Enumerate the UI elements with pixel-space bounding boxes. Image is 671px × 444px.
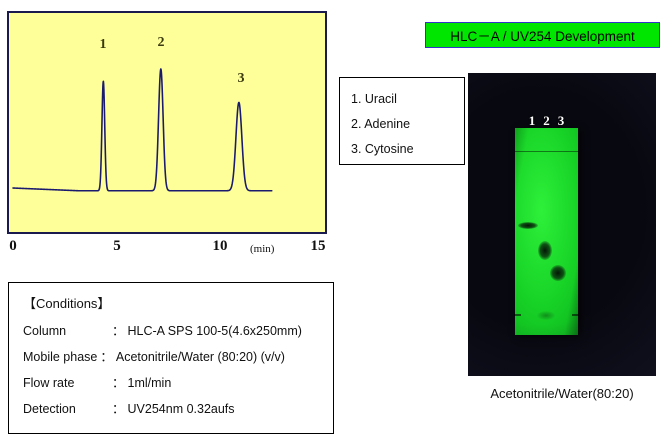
- chromatogram-plot-area: 1 2 3: [7, 11, 327, 234]
- peak-label-1: 1: [100, 37, 107, 53]
- condition-sep-detection: ：: [109, 396, 128, 422]
- condition-row-flow-rate: Flow rate ： 1ml/min: [23, 370, 333, 396]
- axis-unit-label: (min): [250, 243, 274, 255]
- condition-row-mobile-phase: Mobile phase ： Acetonitrile/Water (80:20…: [23, 344, 333, 370]
- condition-value-mobile-phase: Acetonitrile/Water (80:20) (v/v): [116, 344, 285, 370]
- chromatogram-trace-line: [13, 69, 272, 191]
- chromatogram-x-axis: 0 5 10 15 (min): [7, 236, 327, 260]
- tlc-photo-vignette: [468, 73, 656, 376]
- chromatogram-panel: 1 2 3: [7, 11, 327, 234]
- tlc-plate-photo: 1 2 3: [468, 73, 656, 376]
- axis-tick-15: 15: [311, 238, 326, 255]
- condition-sep-column: ：: [109, 318, 128, 344]
- legend-item-adenine: 2. Adenine: [351, 112, 464, 137]
- condition-label-column: Column: [23, 318, 109, 344]
- condition-label-detection: Detection: [23, 396, 109, 422]
- conditions-box: 【Conditions】 Column ： HLC-A SPS 100-5(4.…: [8, 282, 334, 434]
- axis-tick-5: 5: [113, 238, 121, 255]
- peak-label-3: 3: [238, 71, 245, 87]
- condition-value-detection: UV254nm 0.32aufs: [128, 396, 235, 422]
- peak-label-2: 2: [158, 35, 165, 51]
- tlc-photo-caption: Acetonitrile/Water(80:20): [468, 386, 656, 401]
- uv-development-banner: HLC－A / UV254 Development: [425, 22, 660, 48]
- axis-tick-0: 0: [9, 238, 17, 255]
- condition-value-column: HLC-A SPS 100-5(4.6x250mm): [128, 318, 302, 344]
- condition-row-detection: Detection ： UV254nm 0.32aufs: [23, 396, 333, 422]
- condition-row-column: Column ： HLC-A SPS 100-5(4.6x250mm): [23, 318, 333, 344]
- compound-legend-box: 1. Uracil 2. Adenine 3. Cytosine: [339, 77, 465, 165]
- legend-item-uracil: 1. Uracil: [351, 87, 464, 112]
- condition-label-flow-rate: Flow rate: [23, 370, 109, 396]
- axis-tick-10: 10: [213, 238, 228, 255]
- legend-item-cytosine: 3. Cytosine: [351, 137, 464, 162]
- chromatogram-trace-svg: [9, 13, 325, 232]
- condition-label-mobile-phase: Mobile phase: [23, 344, 97, 370]
- condition-value-flow-rate: 1ml/min: [128, 370, 172, 396]
- condition-sep-flow-rate: ：: [109, 370, 128, 396]
- conditions-heading: 【Conditions】: [23, 293, 333, 312]
- uv-development-banner-title: HLC－A / UV254 Development: [450, 25, 635, 45]
- condition-sep-mobile-phase: ：: [97, 344, 116, 370]
